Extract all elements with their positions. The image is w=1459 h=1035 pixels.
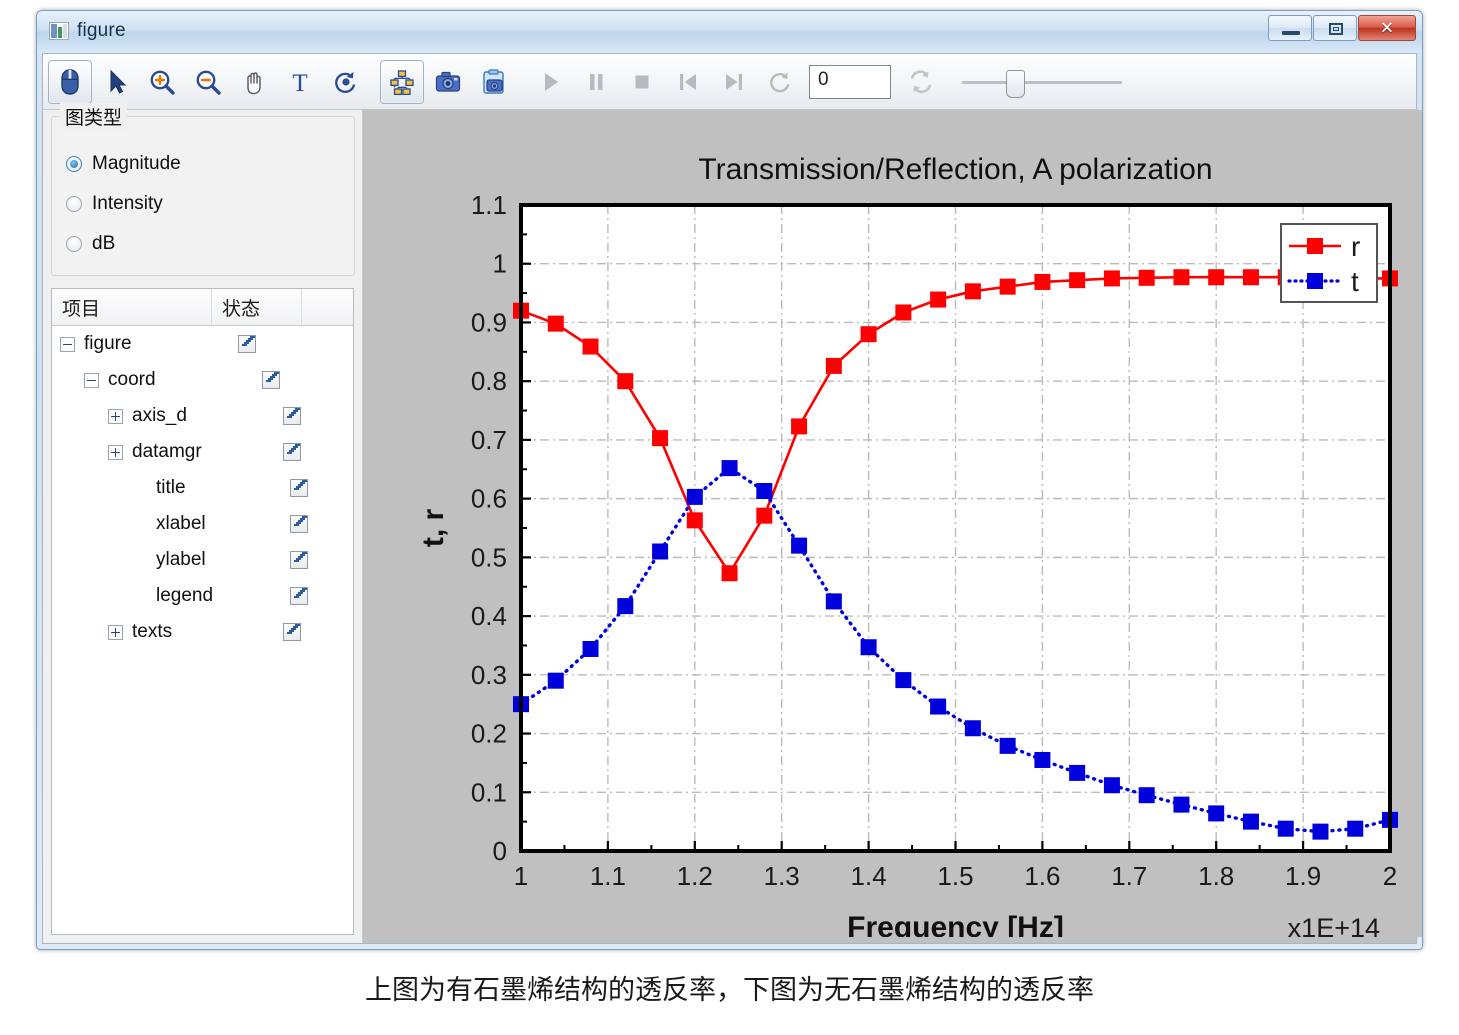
frame-slider[interactable]	[962, 67, 1122, 97]
stop-tool[interactable]	[620, 60, 664, 104]
tree-row-item: ylabel	[52, 549, 272, 571]
y-axis-tick-label: 0.6	[471, 484, 507, 514]
data-point-t	[1139, 787, 1155, 803]
tree-node-label: legend	[156, 585, 213, 607]
data-point-t	[1347, 821, 1363, 837]
tree-row-status	[244, 371, 334, 389]
tree-row-status	[272, 587, 353, 605]
y-axis-tick-label: 1	[493, 249, 507, 279]
y-axis-tick-label: 0.8	[471, 366, 507, 396]
select-arrow-tool[interactable]	[94, 60, 138, 104]
radio-intensity-label: Intensity	[92, 193, 163, 215]
x-axis-tick-label: 1.2	[677, 861, 713, 891]
column-header-status[interactable]: 状态	[212, 289, 302, 325]
left-panel: 图类型 Magnitude Intensity dB 项目 状态	[43, 110, 363, 943]
tree-row[interactable]: datamgr	[52, 434, 353, 470]
data-point-t	[930, 699, 946, 715]
tree-row-status	[265, 443, 353, 461]
radio-intensity-dot	[66, 196, 82, 212]
x-axis-tick-label: 1.6	[1024, 861, 1060, 891]
figure-window: figure ✕	[36, 10, 1423, 950]
data-point-t	[756, 483, 772, 499]
data-point-r	[1243, 269, 1259, 285]
chart-title: Transmission/Reflection, A polarization	[698, 153, 1212, 186]
visibility-checkbox[interactable]	[290, 551, 308, 569]
pan-hand-tool[interactable]	[232, 60, 276, 104]
next-frame-tool[interactable]	[712, 60, 756, 104]
data-point-r	[652, 430, 668, 446]
x-axis-tick-label: 1.5	[937, 861, 973, 891]
y-axis-tick-label: 0.2	[471, 719, 507, 749]
tree-layout-tool[interactable]	[380, 60, 424, 104]
visibility-checkbox[interactable]	[283, 443, 301, 461]
data-point-t	[861, 639, 877, 655]
x-axis-tick-label: 1.1	[590, 861, 626, 891]
data-point-t	[1278, 821, 1294, 837]
object-tree-body: figurecoordaxis_ddatamgrtitlexlabelylabe…	[52, 326, 353, 650]
tree-row-item: figure	[52, 333, 220, 355]
chart-svg: 00.10.20.30.40.50.60.70.80.911.111.11.21…	[363, 110, 1423, 937]
tree-spacer	[132, 589, 147, 604]
expand-plus-icon[interactable]	[108, 625, 123, 640]
tree-row[interactable]: legend	[52, 578, 353, 614]
expand-plus-icon[interactable]	[108, 445, 123, 460]
legend-label-r: r	[1351, 231, 1360, 262]
zoom-out-tool[interactable]	[186, 60, 230, 104]
data-point-t	[1104, 777, 1120, 793]
y-axis-tick-label: 0.1	[471, 777, 507, 807]
collapse-minus-icon[interactable]	[60, 337, 75, 352]
visibility-checkbox[interactable]	[290, 587, 308, 605]
radio-magnitude-label: Magnitude	[92, 153, 181, 175]
tree-node-label: texts	[132, 621, 172, 643]
camera-snapshot-tool[interactable]	[426, 60, 470, 104]
page-caption: 上图为有石墨烯结构的透反率，下图为无石墨烯结构的透反率	[0, 968, 1459, 1007]
tree-node-label: xlabel	[156, 513, 206, 535]
visibility-checkbox[interactable]	[283, 407, 301, 425]
data-point-t	[687, 489, 703, 505]
data-point-t	[965, 720, 981, 736]
y-axis-label: t, r	[417, 509, 450, 548]
collapse-minus-icon[interactable]	[84, 373, 99, 388]
plot-canvas[interactable]: 00.10.20.30.40.50.60.70.80.911.111.11.21…	[363, 110, 1416, 943]
x-axis-label: Frequency [Hz]	[847, 911, 1064, 937]
x-axis-tick-label: 2	[1383, 861, 1397, 891]
tree-row-item: legend	[52, 585, 272, 607]
data-point-t	[1034, 752, 1050, 768]
play-tool[interactable]	[528, 60, 572, 104]
data-point-r	[965, 283, 981, 299]
y-axis-tick-label: 0.3	[471, 660, 507, 690]
radio-db-dot	[66, 236, 82, 252]
data-point-t	[617, 598, 633, 614]
pointer-mouse-tool[interactable]	[48, 60, 92, 104]
tree-row-item: datamgr	[52, 441, 265, 463]
data-point-r	[1208, 269, 1224, 285]
radio-magnitude-dot	[66, 156, 82, 172]
window-title: figure	[77, 20, 126, 42]
tree-row-item: axis_d	[52, 405, 265, 427]
tree-row-status	[265, 407, 353, 425]
column-header-item[interactable]: 项目	[52, 289, 212, 325]
x-axis-multiplier: x1E+14	[1288, 913, 1380, 937]
window-controls: ✕	[1267, 15, 1416, 43]
radio-intensity[interactable]: Intensity	[66, 193, 163, 215]
visibility-checkbox[interactable]	[283, 623, 301, 641]
y-axis-tick-label: 0.7	[471, 425, 507, 455]
main-toolbar: T	[43, 54, 1416, 110]
radio-db[interactable]: dB	[66, 233, 115, 255]
data-point-t	[1069, 765, 1085, 781]
data-point-r	[548, 316, 564, 332]
data-point-r	[861, 326, 877, 342]
data-point-r	[687, 512, 703, 528]
tree-node-label: datamgr	[132, 441, 202, 463]
minimize-button[interactable]	[1268, 15, 1312, 41]
tree-row-item: coord	[52, 369, 244, 391]
data-point-r	[791, 418, 807, 434]
x-axis-tick-label: 1.4	[851, 861, 887, 891]
tree-row-status	[265, 623, 353, 641]
y-axis-tick-label: 0.5	[471, 542, 507, 572]
data-point-t	[1243, 814, 1259, 830]
close-button[interactable]: ✕	[1358, 15, 1416, 41]
prev-frame-tool[interactable]	[666, 60, 710, 104]
data-point-t	[826, 593, 842, 609]
tree-row[interactable]: figure	[52, 326, 353, 362]
data-point-t	[652, 543, 668, 559]
tree-row-status	[272, 479, 353, 497]
data-point-t	[583, 641, 599, 657]
window-titlebar[interactable]: figure ✕	[37, 11, 1422, 53]
tree-row[interactable]: ylabel	[52, 542, 353, 578]
tree-row-item: texts	[52, 621, 265, 643]
tree-node-label: coord	[108, 369, 156, 391]
tree-row-item: xlabel	[52, 513, 272, 535]
x-axis-tick-label: 1	[514, 861, 528, 891]
visibility-checkbox[interactable]	[238, 335, 256, 353]
radio-db-label: dB	[92, 233, 115, 255]
y-axis-tick-label: 0	[493, 836, 507, 866]
tree-row[interactable]: title	[52, 470, 353, 506]
data-point-t	[722, 460, 738, 476]
tree-row-item: title	[52, 477, 272, 499]
slider-track	[962, 81, 1122, 84]
y-axis-tick-label: 0.4	[471, 601, 507, 631]
refresh-tool[interactable]	[899, 60, 943, 104]
tree-row[interactable]: texts	[52, 614, 353, 650]
tree-node-label: ylabel	[156, 549, 206, 571]
object-tree-header: 项目 状态	[52, 289, 353, 326]
data-point-r	[1069, 272, 1085, 288]
visibility-checkbox[interactable]	[290, 479, 308, 497]
data-point-r	[756, 508, 772, 524]
tree-row[interactable]: coord	[52, 362, 353, 398]
y-axis-tick-label: 0.9	[471, 307, 507, 337]
tree-row[interactable]: axis_d	[52, 398, 353, 434]
data-point-r	[930, 292, 946, 308]
legend-marker-r	[1307, 238, 1323, 254]
x-axis-tick-label: 1.8	[1198, 861, 1234, 891]
data-point-r	[826, 358, 842, 374]
data-point-r	[1139, 270, 1155, 286]
plot-type-groupbox: 图类型 Magnitude Intensity dB	[51, 116, 355, 276]
slider-thumb[interactable]	[1006, 70, 1025, 98]
tree-spacer	[132, 517, 147, 532]
tree-spacer	[132, 553, 147, 568]
tree-spacer	[132, 481, 147, 496]
data-point-t	[895, 672, 911, 688]
maximize-button[interactable]	[1313, 15, 1357, 41]
zoom-in-tool[interactable]	[140, 60, 184, 104]
data-point-r	[1034, 274, 1050, 290]
x-axis-tick-label: 1.3	[764, 861, 800, 891]
data-point-t	[1208, 805, 1224, 821]
text-tool[interactable]: T	[278, 60, 322, 104]
data-point-r	[1173, 269, 1189, 285]
tree-node-label: figure	[84, 333, 132, 355]
data-point-t	[548, 673, 564, 689]
tree-node-label: axis_d	[132, 405, 187, 427]
tree-row-status	[272, 551, 353, 569]
x-axis-tick-label: 1.9	[1285, 861, 1321, 891]
x-axis-tick-label: 1.7	[1111, 861, 1147, 891]
reset-view-tool[interactable]	[324, 60, 368, 104]
pause-tool[interactable]	[574, 60, 618, 104]
visibility-checkbox[interactable]	[290, 515, 308, 533]
legend-marker-t	[1307, 273, 1323, 289]
window-client-area: T	[42, 53, 1417, 944]
data-point-r	[722, 565, 738, 581]
tree-row-status	[272, 515, 353, 533]
data-point-t	[1173, 797, 1189, 813]
figure-icon	[49, 22, 69, 40]
plot-type-legend: 图类型	[60, 103, 127, 130]
data-point-r	[1000, 279, 1016, 295]
visibility-checkbox[interactable]	[262, 371, 280, 389]
loop-tool[interactable]	[758, 60, 802, 104]
data-point-r	[583, 339, 599, 355]
tree-row-status	[220, 335, 310, 353]
frame-number-input[interactable]: 0	[809, 65, 891, 99]
column-header-extra[interactable]	[302, 289, 353, 325]
svg-text:T: T	[292, 70, 307, 96]
data-point-t	[1000, 738, 1016, 754]
tree-row[interactable]: xlabel	[52, 506, 353, 542]
data-point-r	[895, 304, 911, 320]
data-point-r	[1104, 270, 1120, 286]
data-point-t	[791, 538, 807, 554]
data-point-r	[617, 373, 633, 389]
y-axis-tick-label: 1.1	[471, 190, 507, 220]
data-point-t	[1312, 824, 1328, 840]
legend-label-t: t	[1351, 266, 1359, 297]
tree-node-label: title	[156, 477, 186, 499]
object-tree-table: 项目 状态 figurecoordaxis_ddatamgrtitlexlabe…	[51, 288, 354, 935]
legend-box[interactable]	[1281, 224, 1377, 302]
expand-plus-icon[interactable]	[108, 409, 123, 424]
copy-clipboard-tool[interactable]	[472, 60, 516, 104]
radio-magnitude[interactable]: Magnitude	[66, 153, 181, 175]
